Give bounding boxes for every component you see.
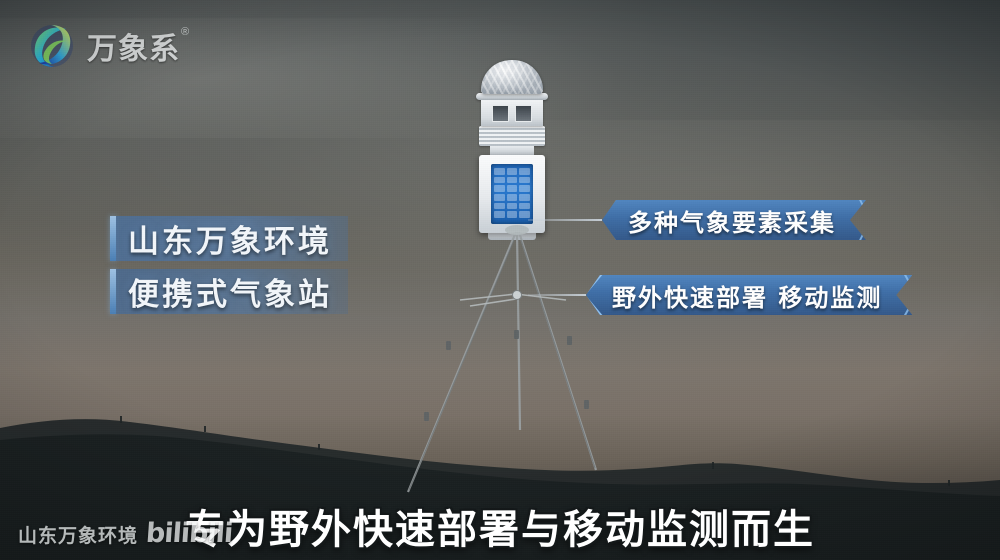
callout-feature-1: 多种气象要素采集 — [528, 200, 866, 240]
page-title-line2: 便携式气象站 — [128, 269, 332, 314]
dome-facets — [481, 60, 543, 94]
globe-swirl-logo-icon — [26, 20, 78, 72]
bilibili-watermark: bilibili — [145, 518, 233, 549]
logo-wordmark: 万象系 ® — [87, 24, 189, 68]
video-frame: 万象系 ® — [0, 0, 1000, 560]
watermark: 山东万象环境 bilibili — [18, 518, 232, 549]
lcd-readout-grid — [494, 168, 530, 218]
dome-brim — [476, 93, 548, 100]
page-title-line1: 山东万象环境 — [128, 216, 332, 261]
title-row-1: 山东万象环境 — [110, 216, 348, 261]
callout-feature-2: 野外快速部署 移动监测 — [528, 275, 912, 315]
lcd-display-icon — [491, 164, 533, 224]
callout-label-1: 多种气象要素采集 — [628, 203, 836, 238]
callout-connector-line — [528, 219, 602, 221]
callout-connector-line — [528, 294, 586, 296]
callout-label-2: 野外快速部署 移动监测 — [612, 278, 882, 313]
title-banner-1: 山东万象环境 — [116, 216, 348, 261]
title-row-2: 便携式气象站 — [110, 269, 348, 314]
brand-logo: 万象系 ® — [26, 20, 189, 72]
louver-slot — [492, 105, 509, 122]
radiation-shield-ribs — [479, 126, 545, 146]
louver-slot — [515, 105, 532, 122]
device-neck — [490, 146, 534, 155]
logo-text: 万象系 — [87, 24, 180, 68]
callout-banner-1: 多种气象要素采集 — [602, 200, 866, 240]
main-title-block: 山东万象环境 便携式气象站 — [110, 216, 348, 322]
sensor-dome-icon — [481, 60, 543, 94]
title-banner-2: 便携式气象站 — [116, 269, 348, 314]
louver-housing — [481, 100, 543, 126]
callout-banner-2: 野外快速部署 移动监测 — [586, 275, 912, 315]
watermark-company: 山东万象环境 — [18, 521, 138, 548]
registered-mark: ® — [181, 26, 189, 38]
